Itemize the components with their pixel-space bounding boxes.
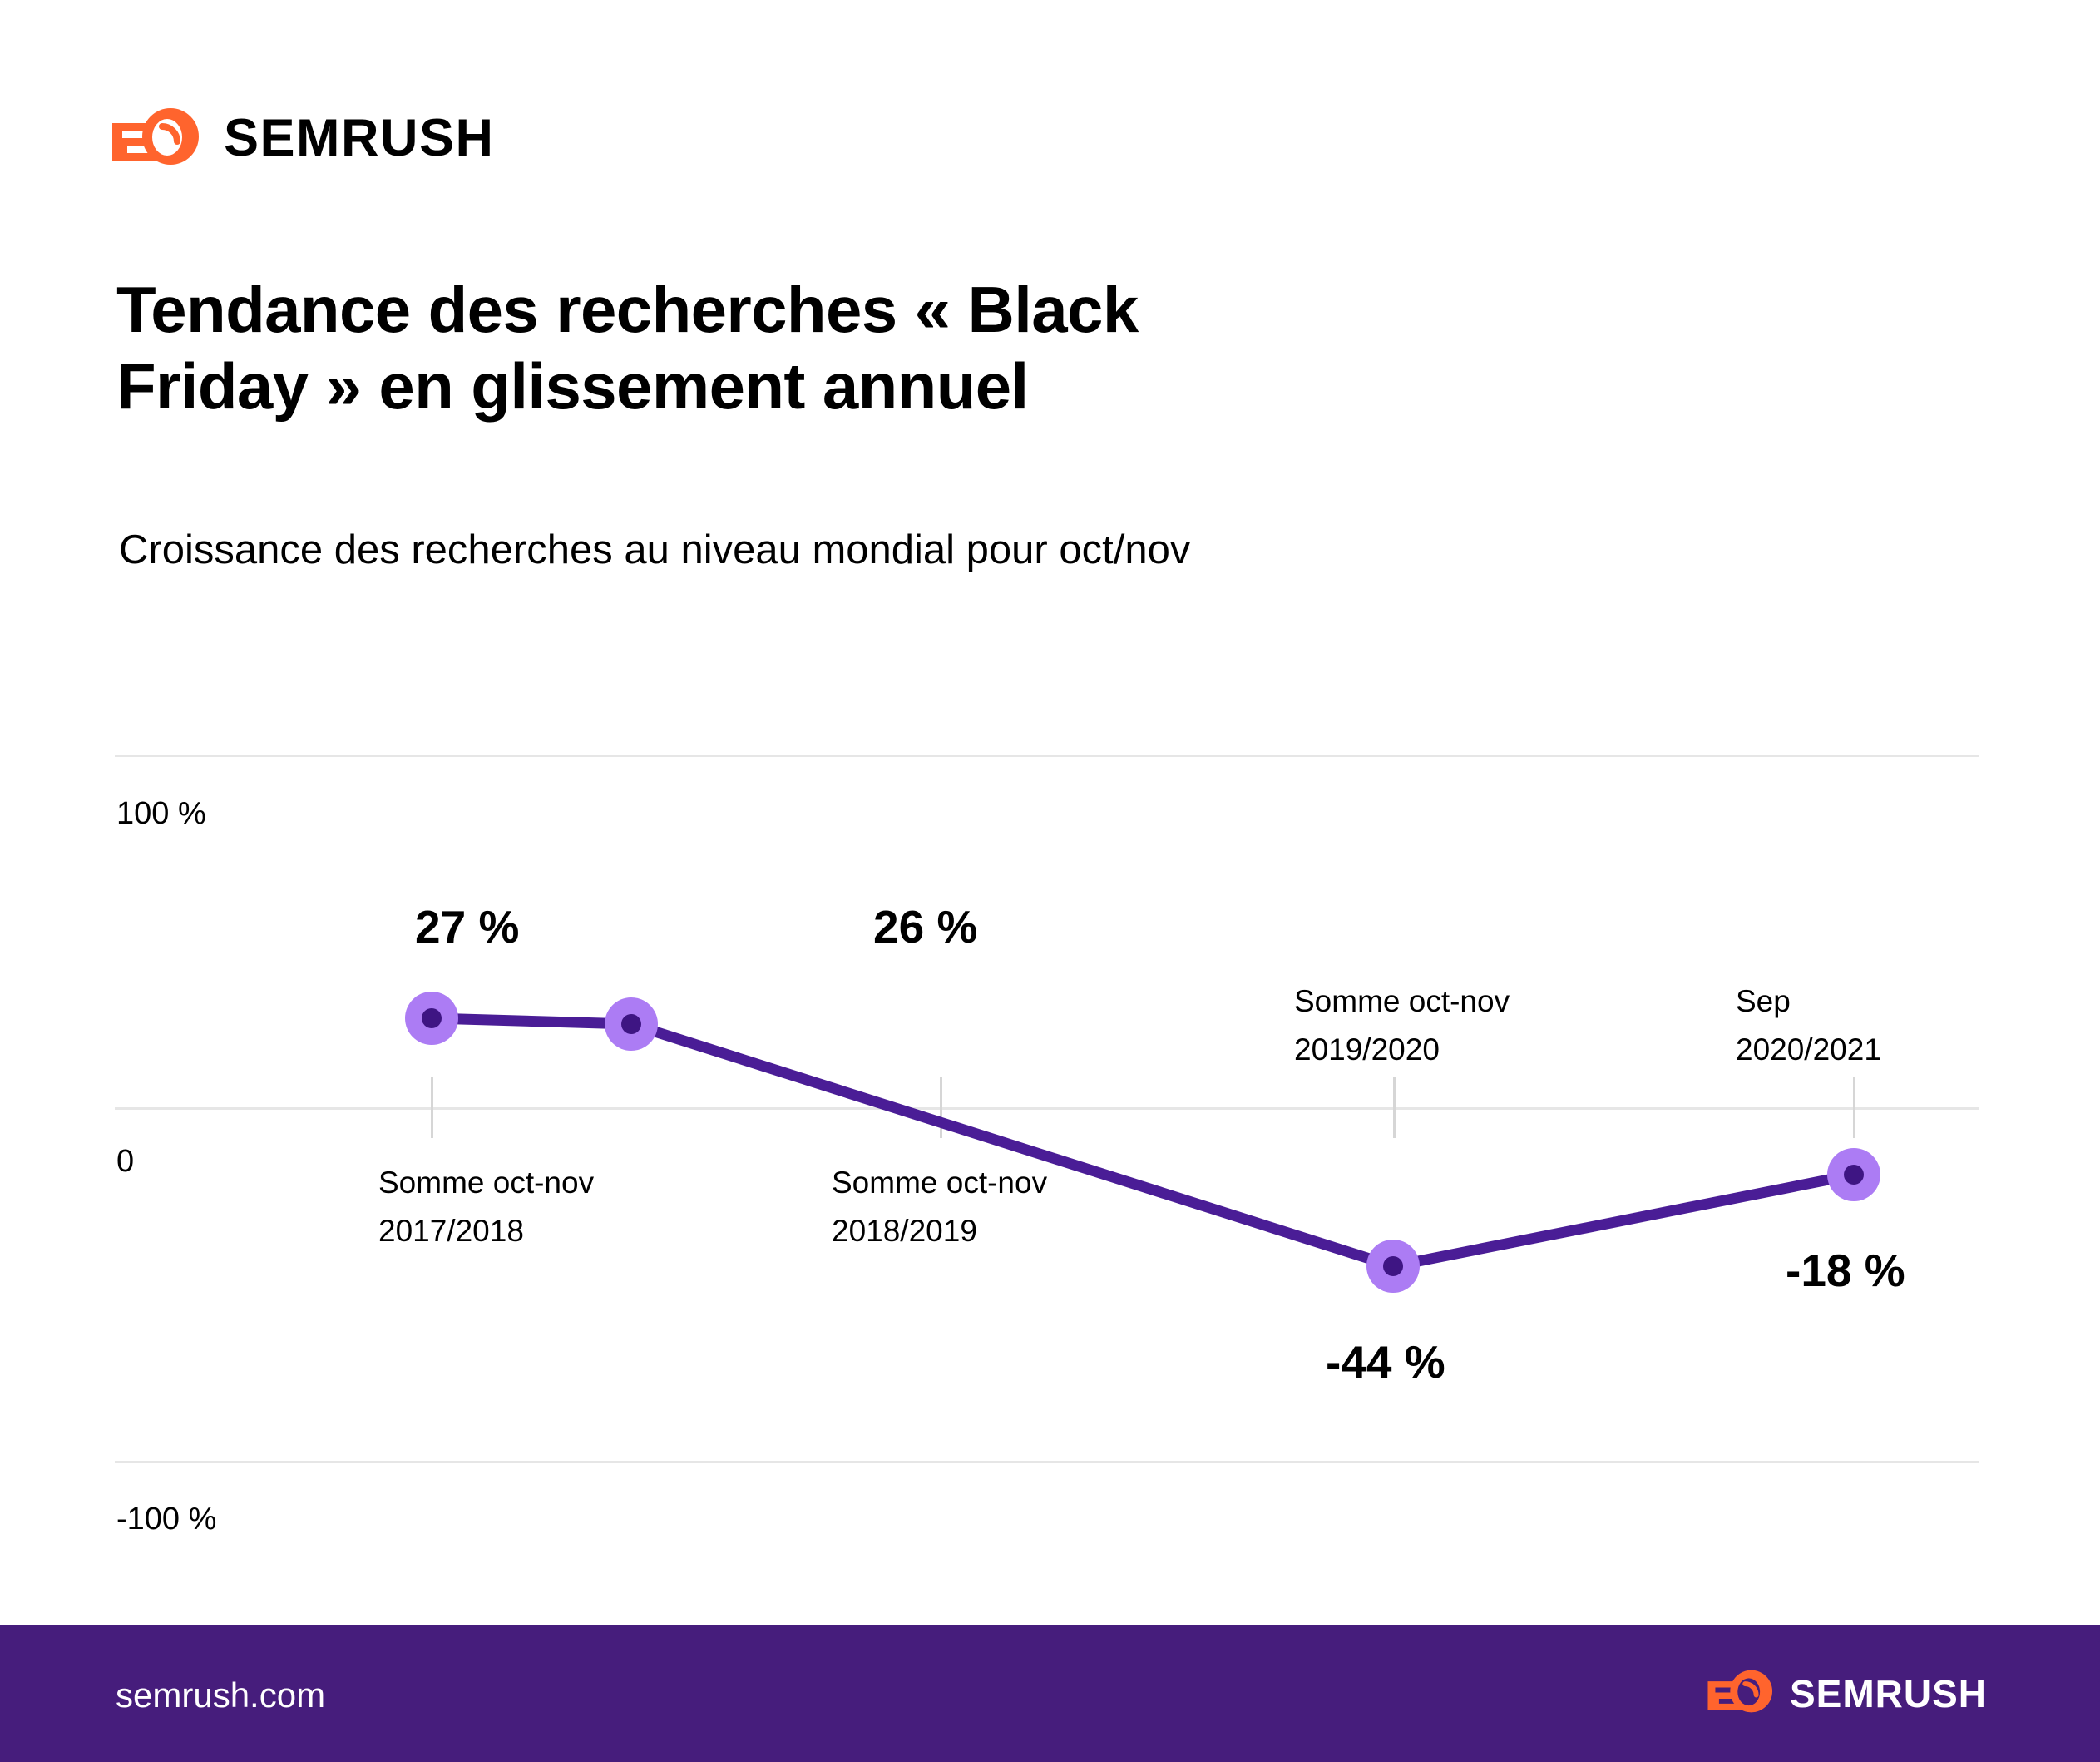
data-label-2: 26 % (873, 900, 977, 953)
line-chart: 100 % 0 -100 % 27 % 26 % -44 % -18 % Som… (0, 0, 2100, 1762)
footer-url[interactable]: semrush.com (116, 1675, 325, 1715)
data-point-dot (422, 1008, 442, 1028)
x-axis-label-4: Sep 2020/2021 (1736, 978, 1881, 1075)
data-point-dot (1383, 1256, 1403, 1276)
x-axis-label-3: Somme oct-nov 2019/2020 (1294, 978, 1510, 1075)
series-line (0, 0, 2100, 1762)
brand-wordmark: SEMRUSH (1790, 1675, 1987, 1713)
semrush-comet-icon (1707, 1669, 1775, 1718)
data-label-4: -18 % (1786, 1244, 1905, 1297)
x-axis-label-1: Somme oct-nov 2017/2018 (378, 1159, 594, 1256)
data-label-1: 27 % (415, 900, 519, 953)
infographic-page: SEMRUSH Tendance des recherches « Black … (0, 0, 2100, 1762)
data-point-dot (621, 1014, 641, 1034)
x-axis-label-2: Somme oct-nov 2018/2019 (832, 1159, 1047, 1256)
data-point-dot (1844, 1165, 1864, 1185)
data-label-3: -44 % (1326, 1335, 1445, 1388)
brand-logo-footer: SEMRUSH (1707, 1669, 1987, 1718)
